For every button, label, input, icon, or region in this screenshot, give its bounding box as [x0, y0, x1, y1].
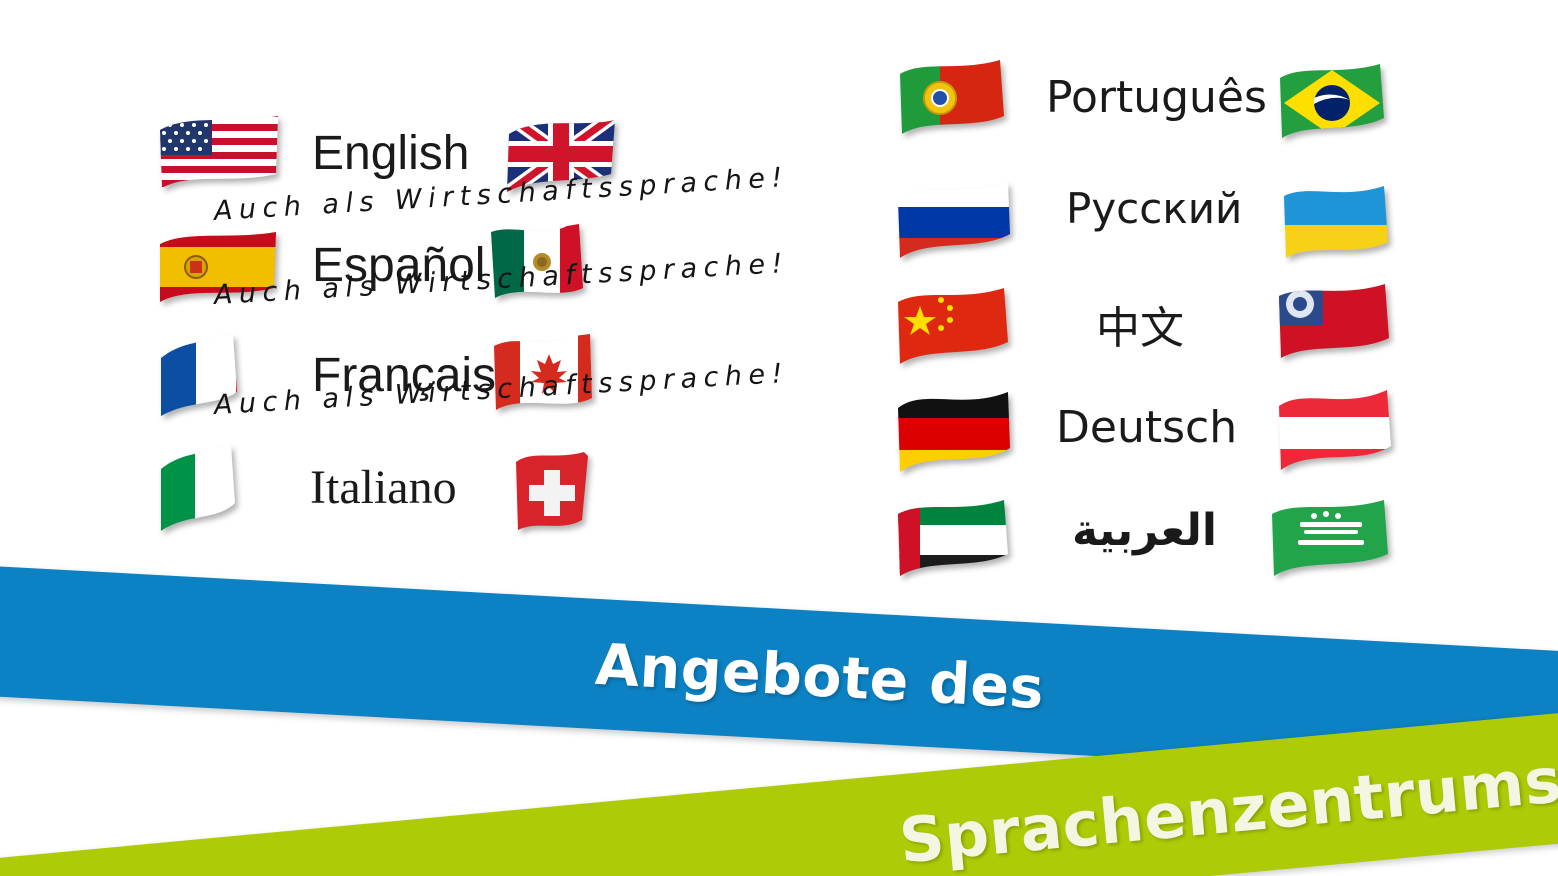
banner-line-2: Sprachenzentrums: [896, 743, 1558, 876]
flag-portugal: [896, 56, 1008, 142]
language-label-chinese: 中文: [1096, 292, 1184, 356]
flag-russia: [896, 176, 1014, 268]
flag-saudi-arabia: [1270, 496, 1392, 584]
poster-canvas: English Auch als Wirtschaftssprache!: [0, 0, 1558, 876]
flag-switzerland: [508, 446, 596, 538]
flag-austria: [1277, 386, 1393, 480]
language-label-arabic: العربية: [1072, 505, 1217, 556]
language-label-english: English: [312, 126, 469, 181]
flag-uae: [896, 496, 1012, 584]
flag-italy: [155, 443, 275, 539]
flag-china: [896, 284, 1012, 372]
language-label-italiano: Italiano: [310, 460, 457, 515]
language-label-portugues: Português: [1046, 72, 1267, 123]
flag-usa: [156, 110, 282, 194]
language-label-russkiy: Русский: [1066, 184, 1242, 233]
banner-line-1: Angebote des: [594, 632, 1046, 722]
flag-myanmar: [1277, 282, 1393, 368]
flag-germany: [896, 386, 1014, 482]
flag-brazil: [1276, 60, 1388, 146]
flag-ukraine: [1280, 182, 1392, 268]
language-label-deutsch: Deutsch: [1056, 402, 1237, 453]
tagline-english: Auch als Wirtschaftssprache!: [213, 162, 790, 227]
